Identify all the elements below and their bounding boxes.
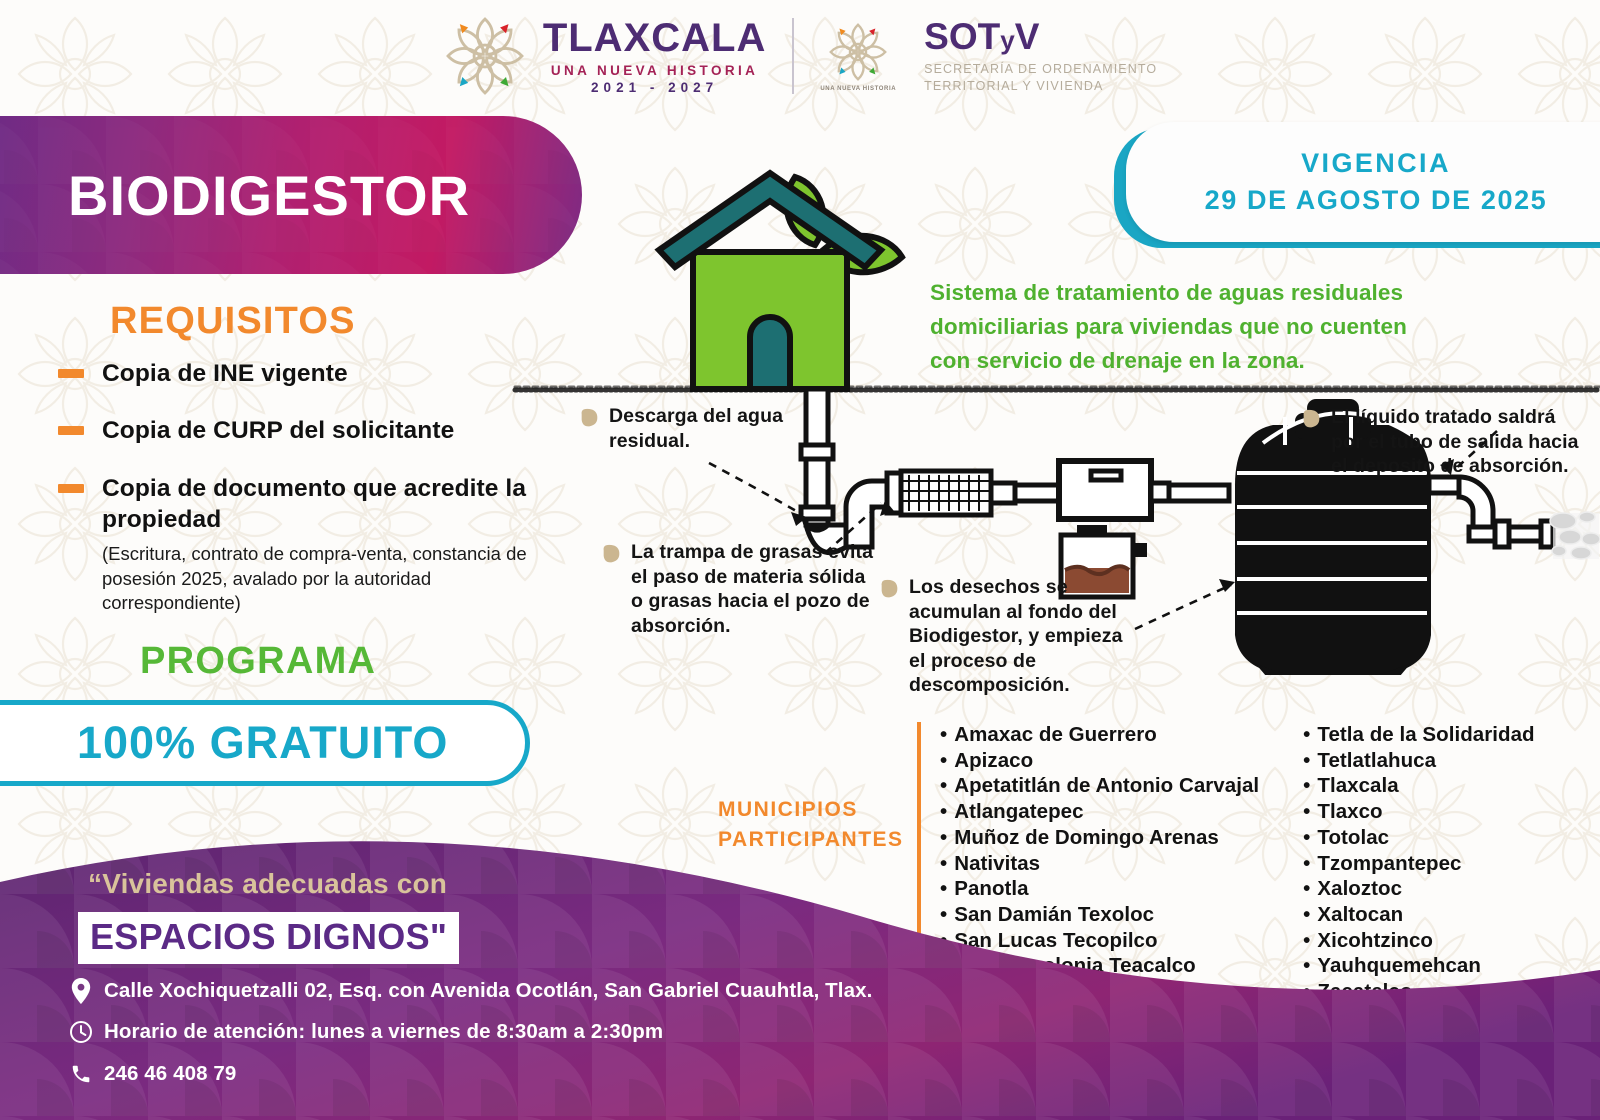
program-description: Sistema de tratamiento de aguas residual… [930,276,1450,377]
requisito-text: Copia de INE vigente [102,358,348,389]
tlaxcala-wordmark: TLAXCALA UNA NUEVA HISTORIA 2021 - 2027 [543,18,767,95]
callout-text: El líquido tratado saldrá por el tubo de… [1331,405,1590,479]
tlaxcala-rosette-icon [443,14,527,98]
programa-heading: PROGRAMA [140,640,376,683]
vigencia-date: 29 DE AGOSTO DE 2025 [1205,185,1548,216]
tan-blob-icon [600,543,622,565]
callout-trampa-grasas: La trampa de grasas evita el paso de mat… [600,540,880,638]
location-pin-icon [68,978,94,1004]
connector-pipe-1 [1015,485,1059,501]
house-icon [659,173,881,389]
list-item: Apetatitlán de Antonio Carvajal [940,773,1259,799]
connector-pipe-2 [1169,485,1229,501]
phone-icon [68,1063,94,1085]
list-item: Tetla de la Solidaridad [1303,722,1534,748]
logo-bar: TLAXCALA UNA NUEVA HISTORIA 2021 - 2027 [0,0,1600,112]
list-item: Copia de documento que acredite la propi… [58,473,568,616]
dash-bullet-icon [58,484,84,493]
outlet-pipe [1429,477,1553,547]
requisito-note: (Escritura, contrato de compra-venta, co… [102,542,568,615]
footer-phone: 246 46 408 79 [104,1062,236,1086]
sotyv-subtitle-line1: SECRETARÍA DE ORDENAMIENTO [924,61,1157,78]
vigencia-badge: VIGENCIA 29 DE AGOSTO DE 2025 [1100,118,1600,248]
list-item: Copia de INE vigente [58,358,568,389]
sotyv-acronym-main: SOT [924,16,1000,57]
tlaxcala-years: 2021 - 2027 [591,81,718,95]
grease-trap [901,471,1015,515]
title-banner: BIODIGESTOR [0,116,582,274]
callout-text: Descarga del agua residual. [609,404,828,453]
list-item: Amaxac de Guerrero [940,722,1259,748]
absorption-gravel-bed [1550,512,1600,559]
callout-descarga: Descarga del agua residual. [578,404,828,453]
sotyv-acronym: SOTyV [924,18,1157,55]
vigencia-card: VIGENCIA 29 DE AGOSTO DE 2025 [1126,122,1600,242]
tlaxcala-logo: TLAXCALA UNA NUEVA HISTORIA 2021 - 2027 [443,14,767,98]
tan-blob-icon [878,578,900,600]
callout-text: La trampa de grasas evita el paso de mat… [631,540,880,638]
footer-phone-row: 246 46 408 79 [68,1062,236,1086]
dash-bullet-icon [58,426,84,435]
requisito-text: Copia de CURP del solicitante [102,415,454,446]
footer-address-row: Calle Xochiquetzalli 02, Esq. con Avenid… [68,978,872,1004]
page-title: BIODIGESTOR [68,163,470,228]
tlaxcala-tagline: UNA NUEVA HISTORIA [551,64,758,78]
programa-gratuito-label: 100% GRATUITO [77,717,448,769]
list-item: Apizaco [940,748,1259,774]
tan-blob-icon [1300,408,1322,430]
sotyv-rosette-block: UNA NUEVA HISTORIA [820,21,896,92]
sotyv-logo: UNA NUEVA HISTORIA SOTyV SECRETARÍA DE O… [820,18,1157,95]
sotyv-subtitle: SECRETARÍA DE ORDENAMIENTO TERRITORIAL Y… [924,61,1157,95]
dash-bullet-icon [58,369,84,378]
footer-slogan-line1: “Viviendas adecuadas con [88,868,447,900]
requisitos-list: Copia de INE vigente Copia de CURP del s… [58,358,568,642]
list-item: Tlaxcala [1303,773,1534,799]
sotyv-acronym-v: V [1015,16,1040,57]
footer-address: Calle Xochiquetzalli 02, Esq. con Avenid… [104,979,872,1003]
callout-liquido-tratado: El líquido tratado saldrá por el tubo de… [1300,405,1590,479]
programa-gratuito-pill: 100% GRATUITO [0,700,530,786]
tan-blob-icon [578,407,600,429]
vigencia-label: VIGENCIA [1301,148,1451,179]
sotyv-acronym-y: y [1000,25,1014,55]
footer-hours-row: Horario de atención: lunes a viernes de … [68,1020,663,1044]
footer-hours: Horario de atención: lunes a viernes de … [104,1020,663,1044]
logo-divider [792,18,794,94]
poster-root: TLAXCALA UNA NUEVA HISTORIA 2021 - 2027 [0,0,1600,1120]
sotyv-subtitle-line2: TERRITORIAL Y VIVIENDA [924,78,1157,95]
callout-desechos: Los desechos se acumulan al fondo del Bi… [878,575,1138,698]
sotyv-rosette-icon [827,21,889,83]
list-item: Copia de CURP del solicitante [58,415,568,446]
footer-slogan-line2: ESPACIOS DIGNOS" [78,912,459,964]
list-item: Tetlatlahuca [1303,748,1534,774]
callout-text: Los desechos se acumulan al fondo del Bi… [909,575,1138,698]
clock-icon [68,1020,94,1044]
requisitos-heading: REQUISITOS [110,300,356,343]
footer-content: “Viviendas adecuadas con ESPACIOS DIGNOS… [0,850,1000,1120]
tlaxcala-name: TLAXCALA [543,18,767,58]
inspection-box [1059,461,1169,519]
requisito-text: Copia de documento que acredite la propi… [102,473,568,536]
sotyv-rosette-caption: UNA NUEVA HISTORIA [820,86,896,92]
sotyv-wordmark: SOTyV SECRETARÍA DE ORDENAMIENTO TERRITO… [924,18,1157,95]
